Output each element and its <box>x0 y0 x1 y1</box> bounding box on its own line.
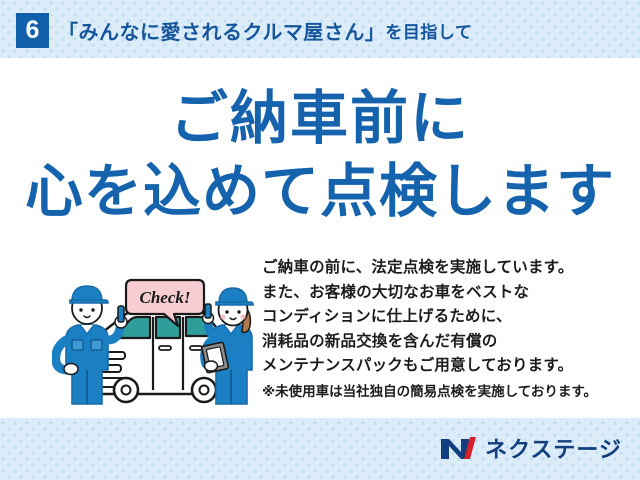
header-title-quoted: 「みんなに愛されるクルマ屋さん」 <box>58 16 385 45</box>
body-line: 消耗品の新品交換を含んだ有償の <box>262 330 634 355</box>
section-number-badge: 6 <box>16 13 49 48</box>
illustration-svg: Check! <box>52 266 264 406</box>
header-title: 「みんなに愛されるクルマ屋さん」を目指して <box>58 13 472 48</box>
nextage-logo-mark <box>439 435 477 461</box>
mechanics-illustration: Check! <box>52 266 264 406</box>
check-bubble-label: Check! <box>140 288 191 307</box>
body-line: ご納車の前に、法定点検を実施しています。 <box>262 256 634 281</box>
screwdriver-icon <box>205 304 211 318</box>
advertisement-slide: 6 「みんなに愛されるクルマ屋さん」を目指して ご納車前に 心を込めて点検します… <box>0 0 640 480</box>
header-title-suffix: を目指して <box>385 18 472 43</box>
body-copy: ご納車の前に、法定点検を実施しています。 また、お客様の大切なお車をベストな コ… <box>262 256 634 404</box>
headline-line-1: ご納車前に <box>0 90 640 148</box>
footer-band: ネクステージ <box>0 418 640 480</box>
nextage-logo: ネクステージ <box>439 432 622 464</box>
body-note: ※未使用車は当社独自の簡易点検を実施しております。 <box>262 379 634 405</box>
body-line: メンテナンスパックもご用意しております。 <box>262 354 634 379</box>
header-band: 6 「みんなに愛されるクルマ屋さん」を目指して <box>0 0 640 58</box>
wrench-icon <box>118 306 124 322</box>
nextage-logo-text: ネクステージ <box>485 432 622 464</box>
body-line: コンディションに仕上げるために、 <box>262 305 634 330</box>
body-line: また、お客様の大切なお車をベストな <box>262 281 634 306</box>
content-panel: ご納車前に 心を込めて点検します ご納車の前に、法定点検を実施しています。 また… <box>0 58 640 418</box>
headline-line-2: 心を込めて点検します <box>0 163 640 221</box>
